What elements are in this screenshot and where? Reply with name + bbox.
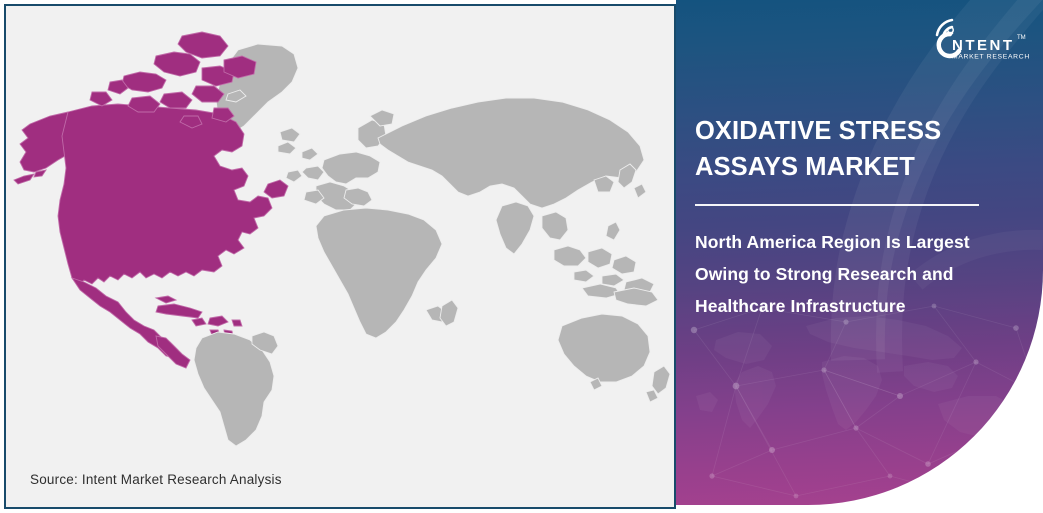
svg-text:MARKET RESEARCH: MARKET RESEARCH [952,54,1030,61]
svg-text:NTENT: NTENT [952,37,1015,54]
infographic-root: .land { fill:#b6b6b6; stroke:#ededed; st… [0,0,1043,513]
side-panel: NTENT TM MARKET RESEARCH OXIDATIVE STRES… [676,0,1043,505]
intent-market-research-logo: NTENT TM MARKET RESEARCH [919,10,1031,62]
network-world-decoration-icon [676,300,1043,505]
page-title: OXIDATIVE STRESS ASSAYS MARKET [695,113,995,185]
title-divider [695,204,979,206]
svg-text:TM: TM [1017,35,1026,41]
world-map: .land { fill:#b6b6b6; stroke:#ededed; st… [6,20,676,450]
source-label: Source: Intent Market Research Analysis [30,472,282,487]
panel-subtitle: North America Region Is Largest Owing to… [695,226,989,322]
map-card: .land { fill:#b6b6b6; stroke:#ededed; st… [4,4,676,509]
